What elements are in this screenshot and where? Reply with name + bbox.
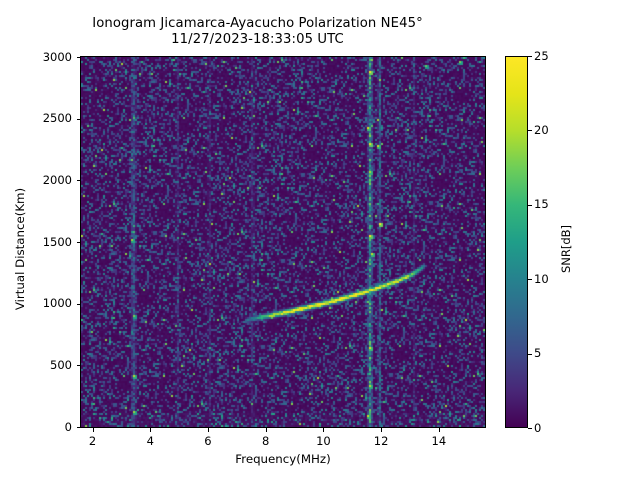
- x-axis-tick: [150, 428, 151, 432]
- colorbar-tick: [528, 205, 532, 206]
- ionogram-heatmap: [81, 57, 485, 427]
- colorbar-tick: [528, 354, 532, 355]
- x-axis-tick-label: 8: [246, 434, 286, 448]
- colorbar-tick-label: 15: [534, 197, 564, 211]
- y-axis-tick: [77, 119, 81, 120]
- plot-area: [80, 56, 486, 428]
- title-line-1: Ionogram Jicamarca-Ayacucho Polarization…: [0, 16, 515, 32]
- colorbar-label: SNR[dB]: [559, 63, 573, 435]
- y-axis-tick: [77, 304, 81, 305]
- x-axis-tick: [208, 428, 209, 432]
- x-axis-tick: [381, 428, 382, 432]
- ionogram-figure: Ionogram Jicamarca-Ayacucho Polarization…: [0, 0, 640, 480]
- y-axis-tick-label: 2500: [8, 111, 72, 125]
- colorbar-tick: [528, 130, 532, 131]
- colorbar-tick: [528, 428, 532, 429]
- x-axis-tick-label: 2: [73, 434, 113, 448]
- x-axis-tick: [266, 428, 267, 432]
- x-axis-tick-label: 10: [303, 434, 343, 448]
- colorbar-tick: [528, 279, 532, 280]
- colorbar-tick-label: 10: [534, 272, 564, 286]
- colorbar-tick: [528, 56, 532, 57]
- colorbar-gradient: [506, 57, 527, 427]
- x-axis-tick-label: 12: [361, 434, 401, 448]
- title-line-2: 11/27/2023-18:33:05 UTC: [0, 32, 515, 48]
- y-axis-tick-label: 500: [8, 358, 72, 372]
- y-axis-tick: [77, 242, 81, 243]
- colorbar-tick-label: 0: [534, 421, 564, 435]
- y-axis-tick-label: 1000: [8, 296, 72, 310]
- y-axis-tick: [77, 57, 81, 58]
- x-axis-tick: [323, 428, 324, 432]
- x-axis-tick: [439, 428, 440, 432]
- y-axis-tick-label: 1500: [8, 235, 72, 249]
- y-axis-tick: [77, 365, 81, 366]
- x-axis-tick: [93, 428, 94, 432]
- x-axis-tick-label: 14: [419, 434, 459, 448]
- colorbar-tick-label: 20: [534, 123, 564, 137]
- y-axis-tick: [77, 427, 81, 428]
- y-axis-tick-label: 2000: [8, 173, 72, 187]
- x-axis-label: Frequency(MHz): [80, 452, 486, 466]
- page-title: Ionogram Jicamarca-Ayacucho Polarization…: [0, 16, 515, 47]
- x-axis-tick-label: 6: [188, 434, 228, 448]
- colorbar: [505, 56, 528, 428]
- colorbar-tick-label: 25: [534, 49, 564, 63]
- y-axis-tick-label: 0: [8, 420, 72, 434]
- y-axis-tick-label: 3000: [8, 50, 72, 64]
- x-axis-tick-label: 4: [130, 434, 170, 448]
- colorbar-tick-label: 5: [534, 346, 564, 360]
- y-axis-tick: [77, 180, 81, 181]
